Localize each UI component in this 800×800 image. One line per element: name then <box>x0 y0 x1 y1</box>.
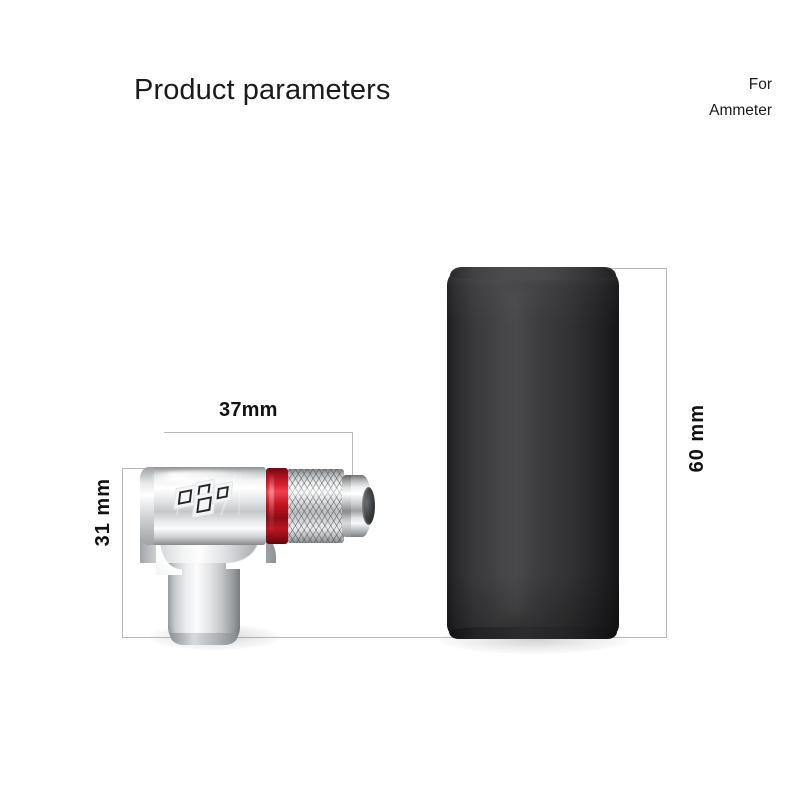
silver-valve-adapter <box>140 455 380 645</box>
knurled-grip <box>288 469 344 543</box>
end-cap-bore <box>362 487 375 525</box>
silver-width-dimension-rule <box>164 432 353 433</box>
qr-module <box>212 481 233 504</box>
silver-width-label: 37mm <box>219 399 278 422</box>
compatibility-device: Ammeter <box>709 98 772 124</box>
compatibility-prefix: For <box>709 72 772 98</box>
red-anodized-ring <box>266 468 288 544</box>
page-title: Product parameters <box>134 74 390 107</box>
silver-height-label: 31 mm <box>92 478 115 546</box>
product-parameters-page: Product parameters For Ammeter 37mm 31 m… <box>0 0 800 800</box>
silver-height-dimension-rule <box>122 468 123 638</box>
black-height-dimension-rule <box>666 268 667 638</box>
compatibility-note: For Ammeter <box>709 72 772 124</box>
bottom-rim <box>449 627 617 639</box>
black-height-label: 60 mm <box>686 404 709 472</box>
black-cylinder-housing <box>447 267 619 639</box>
matte-black-body <box>447 267 619 639</box>
top-rim <box>450 267 616 280</box>
